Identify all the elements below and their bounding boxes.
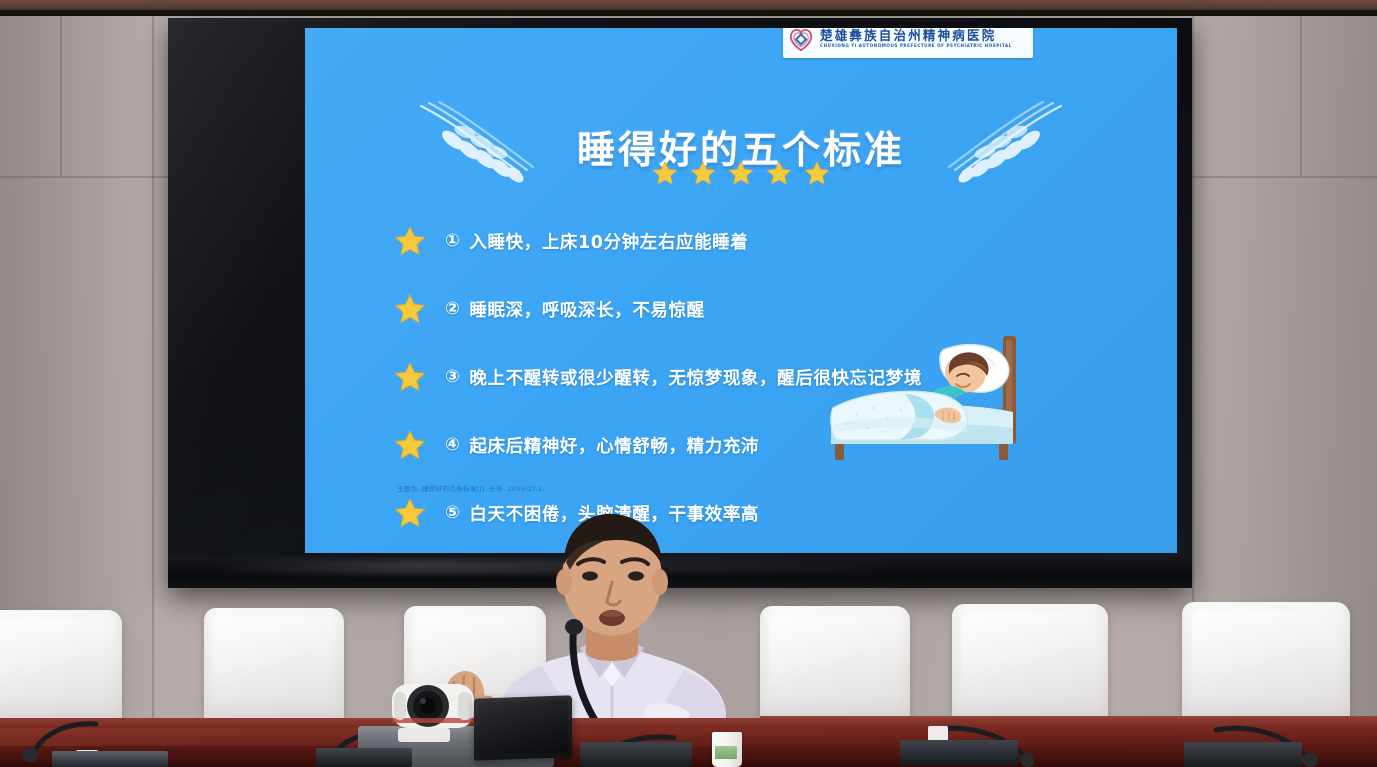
list-item-marker: ① <box>445 231 460 251</box>
star-icon <box>803 160 831 187</box>
hospital-name-cn: 楚雄彝族自治州精神病医院 <box>820 29 1012 42</box>
star-icon <box>651 160 679 187</box>
star-icon <box>727 160 755 187</box>
chair-1 <box>0 610 122 722</box>
list-item-text: 起床后精神好，心情舒畅，精力充沛 <box>469 433 759 458</box>
list-item: ① 入睡快，上床10分钟左右应能睡着 <box>393 218 1133 264</box>
list-item: ② 睡眠深，呼吸深长，不易惊醒 <box>393 286 1133 332</box>
heart-hand-diamond-icon <box>787 28 815 53</box>
paper-cup <box>712 732 742 767</box>
star-icon <box>765 160 793 187</box>
chair-5 <box>952 604 1108 720</box>
chair-6 <box>1182 602 1350 720</box>
chair-4 <box>760 606 910 720</box>
list-item-text: 入睡快，上床10分钟左右应能睡着 <box>469 229 748 254</box>
laptop[interactable] <box>474 695 572 760</box>
hospital-name-en: CHUXIONG YI AUTONOMOUS PREFECTURE OF PSY… <box>820 44 1012 48</box>
list-item-marker: ④ <box>445 435 460 455</box>
star-bullet-icon <box>393 361 427 394</box>
list-item-marker: ② <box>445 299 460 319</box>
star-bullet-icon <box>393 225 427 258</box>
list-item-marker: ③ <box>445 367 460 387</box>
hospital-logo: 楚雄彝族自治州精神病医院 CHUXIONG YI AUTONOMOUS PREF… <box>783 28 1033 58</box>
microphone-5-base <box>1184 742 1302 767</box>
microphone-4-base <box>900 740 1018 766</box>
laptop-screen <box>478 699 568 755</box>
star-icon <box>689 160 717 187</box>
desk-control-unit <box>316 748 412 767</box>
presentation-slide: 楚雄彝族自治州精神病医院 CHUXIONG YI AUTONOMOUS PREF… <box>305 28 1177 553</box>
list-item-text: 睡眠深，呼吸深长，不易惊醒 <box>469 297 704 322</box>
star-bullet-icon <box>393 293 427 326</box>
slide-citation: 王丽华. 睡得好的几条标准[J]. 长寿. 2005(2):1. <box>397 483 545 493</box>
chair-2 <box>204 608 344 722</box>
hospital-logo-text: 楚雄彝族自治州精神病医院 CHUXIONG YI AUTONOMOUS PREF… <box>820 30 1012 49</box>
conference-room-scene: 楚雄彝族自治州精神病医院 CHUXIONG YI AUTONOMOUS PREF… <box>0 0 1377 767</box>
star-bullet-icon <box>393 497 427 530</box>
desk-nameplate <box>580 742 692 767</box>
star-rating <box>305 160 1177 187</box>
person-sleeping-in-bed-illustration <box>817 328 1067 473</box>
cup-print <box>715 746 737 759</box>
microphone-1-base <box>52 751 168 767</box>
star-bullet-icon <box>393 429 427 462</box>
